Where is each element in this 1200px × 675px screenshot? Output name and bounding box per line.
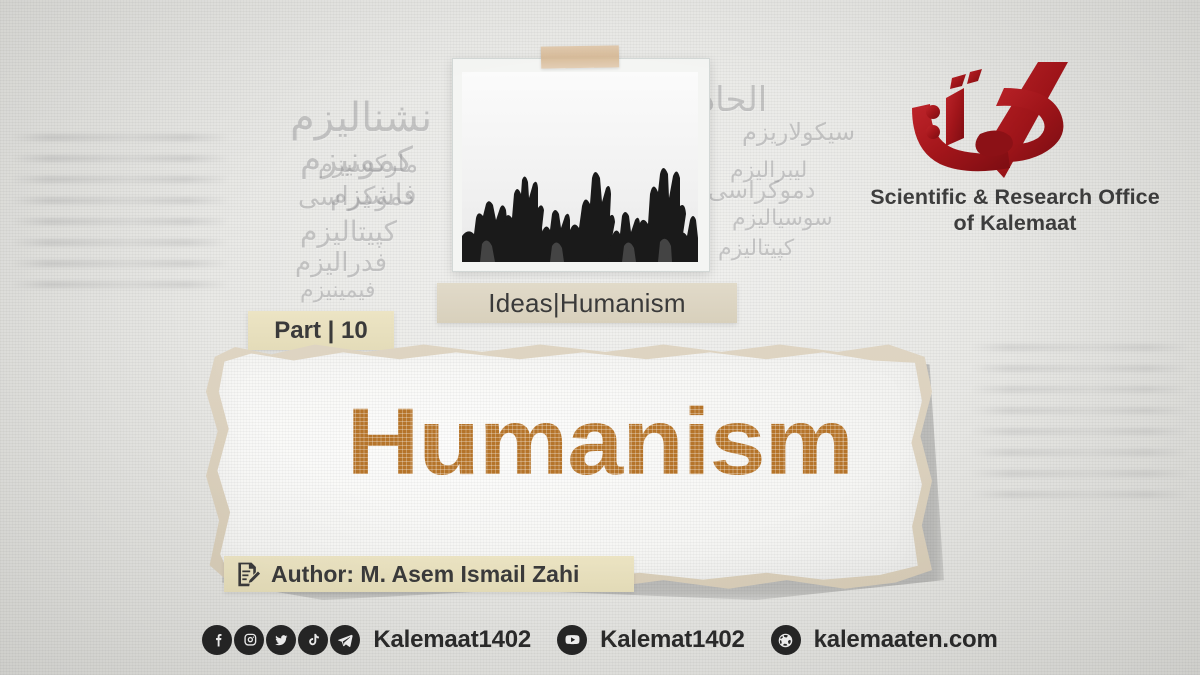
background-handwriting-left: [0, 120, 240, 380]
part-badge-text: Part | 10: [274, 317, 367, 345]
social-group: kalemaaten.com: [771, 625, 998, 655]
logo-caption: Scientific & Research Office of Kalemaat: [860, 184, 1170, 236]
slide-canvas: نشنالیزمکمونیزممارکسیزمدموکراسیفاشیزمکپی…: [0, 0, 1200, 675]
author-badge: Author: M. Asem Ismail Zahi: [224, 556, 634, 592]
logo-caption-line2: of Kalemaat: [860, 210, 1170, 236]
page-title-text: Humanism: [347, 395, 853, 490]
raised-hands-silhouette-icon: [462, 158, 698, 262]
social-handle[interactable]: kalemaaten.com: [814, 626, 998, 654]
ideology-word: نشنالیزم: [290, 95, 432, 141]
edit-document-icon: [234, 560, 262, 588]
tiktok-icon[interactable]: [298, 625, 328, 655]
social-bar: Kalemaat1402Kalemat1402kalemaaten.com: [0, 618, 1200, 662]
ideology-word: کپیتالیزم: [718, 236, 794, 261]
ideology-word: فیمینیزم: [300, 278, 376, 303]
category-label-text: Ideas|Humanism: [488, 288, 685, 319]
ideology-word: کپیتالیزم: [300, 215, 397, 248]
facebook-icon[interactable]: [202, 625, 232, 655]
kalemaat-wordmark-icon: [860, 58, 1170, 180]
youtube-icon[interactable]: [557, 625, 587, 655]
social-group: Kalemaat1402: [202, 625, 557, 655]
ideology-word: سیکولاریزم: [742, 118, 855, 146]
social-group: Kalemat1402: [557, 625, 771, 655]
ideology-word: الحاد: [700, 80, 767, 120]
telegram-icon[interactable]: [330, 625, 360, 655]
instagram-icon[interactable]: [234, 625, 264, 655]
ideology-word: مارکسیزم: [318, 150, 418, 178]
ideology-word: فاشیزم: [330, 178, 417, 211]
ideology-word: دموکراسی: [708, 176, 815, 204]
social-handle[interactable]: Kalemaat1402: [373, 626, 531, 654]
logo-caption-line1: Scientific & Research Office: [860, 184, 1170, 210]
ideology-word: فدرالیزم: [295, 248, 387, 278]
page-title: Humanism: [0, 395, 1200, 490]
author-text: Author: M. Asem Ismail Zahi: [271, 561, 579, 588]
part-badge: Part | 10: [248, 311, 394, 350]
crowd-photo: [462, 72, 698, 262]
organization-logo: Scientific & Research Office of Kalemaat: [860, 58, 1170, 268]
kalemaat-arabic-logo-icon: [900, 60, 1130, 178]
twitter-icon[interactable]: [266, 625, 296, 655]
website-globe-icon[interactable]: [771, 625, 801, 655]
masking-tape-icon: [541, 45, 619, 68]
ideology-word: سوسیالیزم: [732, 206, 833, 231]
category-label: Ideas|Humanism: [437, 283, 737, 323]
social-handle[interactable]: Kalemat1402: [600, 626, 745, 654]
